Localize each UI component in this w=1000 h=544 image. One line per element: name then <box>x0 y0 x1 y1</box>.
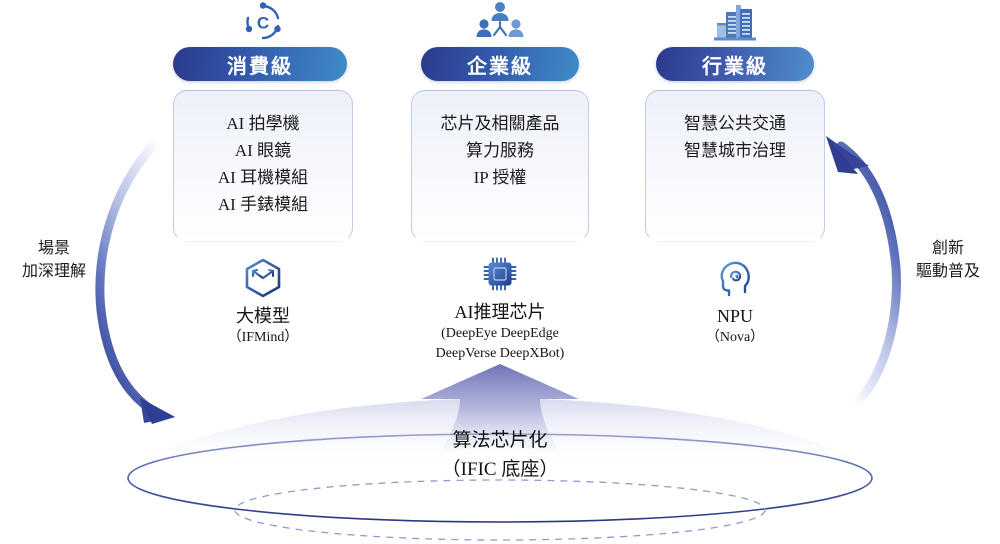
side-label-left-line2: 加深理解 <box>8 260 100 283</box>
foundation-ellipse <box>128 434 872 522</box>
panel-consumer-item-2: AI 耳機模組 <box>180 164 346 191</box>
diagram-canvas: C 消費級 AI 拍學機 AI 眼鏡 AI 耳機模組 AI 手錶模組 <box>0 0 1000 544</box>
panel-enterprise: 芯片及相關產品 算力服務 IP 授權 <box>411 90 589 242</box>
panel-industry-item-0: 智慧公共交通 <box>652 110 818 137</box>
pill-consumer[interactable]: 消費級 <box>173 47 347 81</box>
core-enterprise-subtitle: (DeepEye DeepEdge <box>410 324 590 344</box>
side-label-right-line1: 創新 <box>902 237 994 260</box>
brain-head-npu-icon <box>645 258 825 298</box>
panel-consumer-item-0: AI 拍學機 <box>180 110 346 137</box>
people-group-icon <box>410 0 590 44</box>
panel-consumer-item-3: AI 手錶模組 <box>180 191 346 218</box>
panel-consumer: AI 拍學機 AI 眼鏡 AI 耳機模組 AI 手錶模組 <box>173 90 353 242</box>
base-label-line1: 算法芯片化 <box>0 426 1000 455</box>
right-curved-arrow-up <box>826 136 896 412</box>
left-curved-arrow-down <box>100 130 175 424</box>
core-consumer: 大模型 （IFMind） <box>173 258 353 348</box>
foundation-dome-haze <box>120 398 882 470</box>
pill-enterprise-label: 企業級 <box>467 50 533 79</box>
panel-industry-item-1: 智慧城市治理 <box>652 137 818 164</box>
core-consumer-title: 大模型 <box>173 304 353 328</box>
core-enterprise-title: AI推理芯片 <box>410 300 590 324</box>
core-consumer-subtitle: （IFMind） <box>173 328 353 348</box>
core-industry-title: NPU <box>645 304 825 328</box>
base-upward-arrow <box>421 364 579 460</box>
foundation-dashed-ellipse <box>235 480 765 540</box>
cpu-chip-icon <box>410 254 590 294</box>
pill-industry[interactable]: 行業級 <box>656 47 814 81</box>
side-label-right: 創新 驅動普及 <box>902 237 994 283</box>
base-foundation-label: 算法芯片化 （IFIC 底座） <box>0 426 1000 484</box>
core-industry: NPU （Nova） <box>645 258 825 348</box>
pill-enterprise[interactable]: 企業級 <box>421 47 579 81</box>
side-label-right-line2: 驅動普及 <box>902 260 994 283</box>
side-label-left: 場景 加深理解 <box>8 237 100 283</box>
svg-text:C: C <box>257 14 269 33</box>
core-enterprise: AI推理芯片 (DeepEye DeepEdge DeepVerse DeepX… <box>410 254 590 364</box>
core-enterprise-subtitle2: DeepVerse DeepXBot) <box>410 344 590 364</box>
column-consumer: C 消費級 AI 拍學機 AI 眼鏡 AI 耳機模組 AI 手錶模組 <box>173 0 353 348</box>
cube-model-icon <box>173 258 353 298</box>
panel-enterprise-item-1: 算力服務 <box>418 137 582 164</box>
panel-enterprise-item-2: IP 授權 <box>418 164 582 191</box>
panel-industry: 智慧公共交通 智慧城市治理 <box>645 90 825 242</box>
city-buildings-icon <box>645 0 825 44</box>
pill-industry-label: 行業級 <box>702 50 768 79</box>
pill-consumer-label: 消費級 <box>227 50 293 79</box>
side-label-left-line1: 場景 <box>8 237 100 260</box>
column-industry: 行業級 智慧公共交通 智慧城市治理 <box>645 0 825 348</box>
panel-enterprise-item-0: 芯片及相關產品 <box>418 110 582 137</box>
column-enterprise: 企業級 芯片及相關產品 算力服務 IP 授權 <box>410 0 590 364</box>
consumer-c-circle-icon: C <box>173 0 353 44</box>
core-industry-subtitle: （Nova） <box>645 328 825 348</box>
base-label-line2: （IFIC 底座） <box>0 455 1000 484</box>
panel-consumer-item-1: AI 眼鏡 <box>180 137 346 164</box>
